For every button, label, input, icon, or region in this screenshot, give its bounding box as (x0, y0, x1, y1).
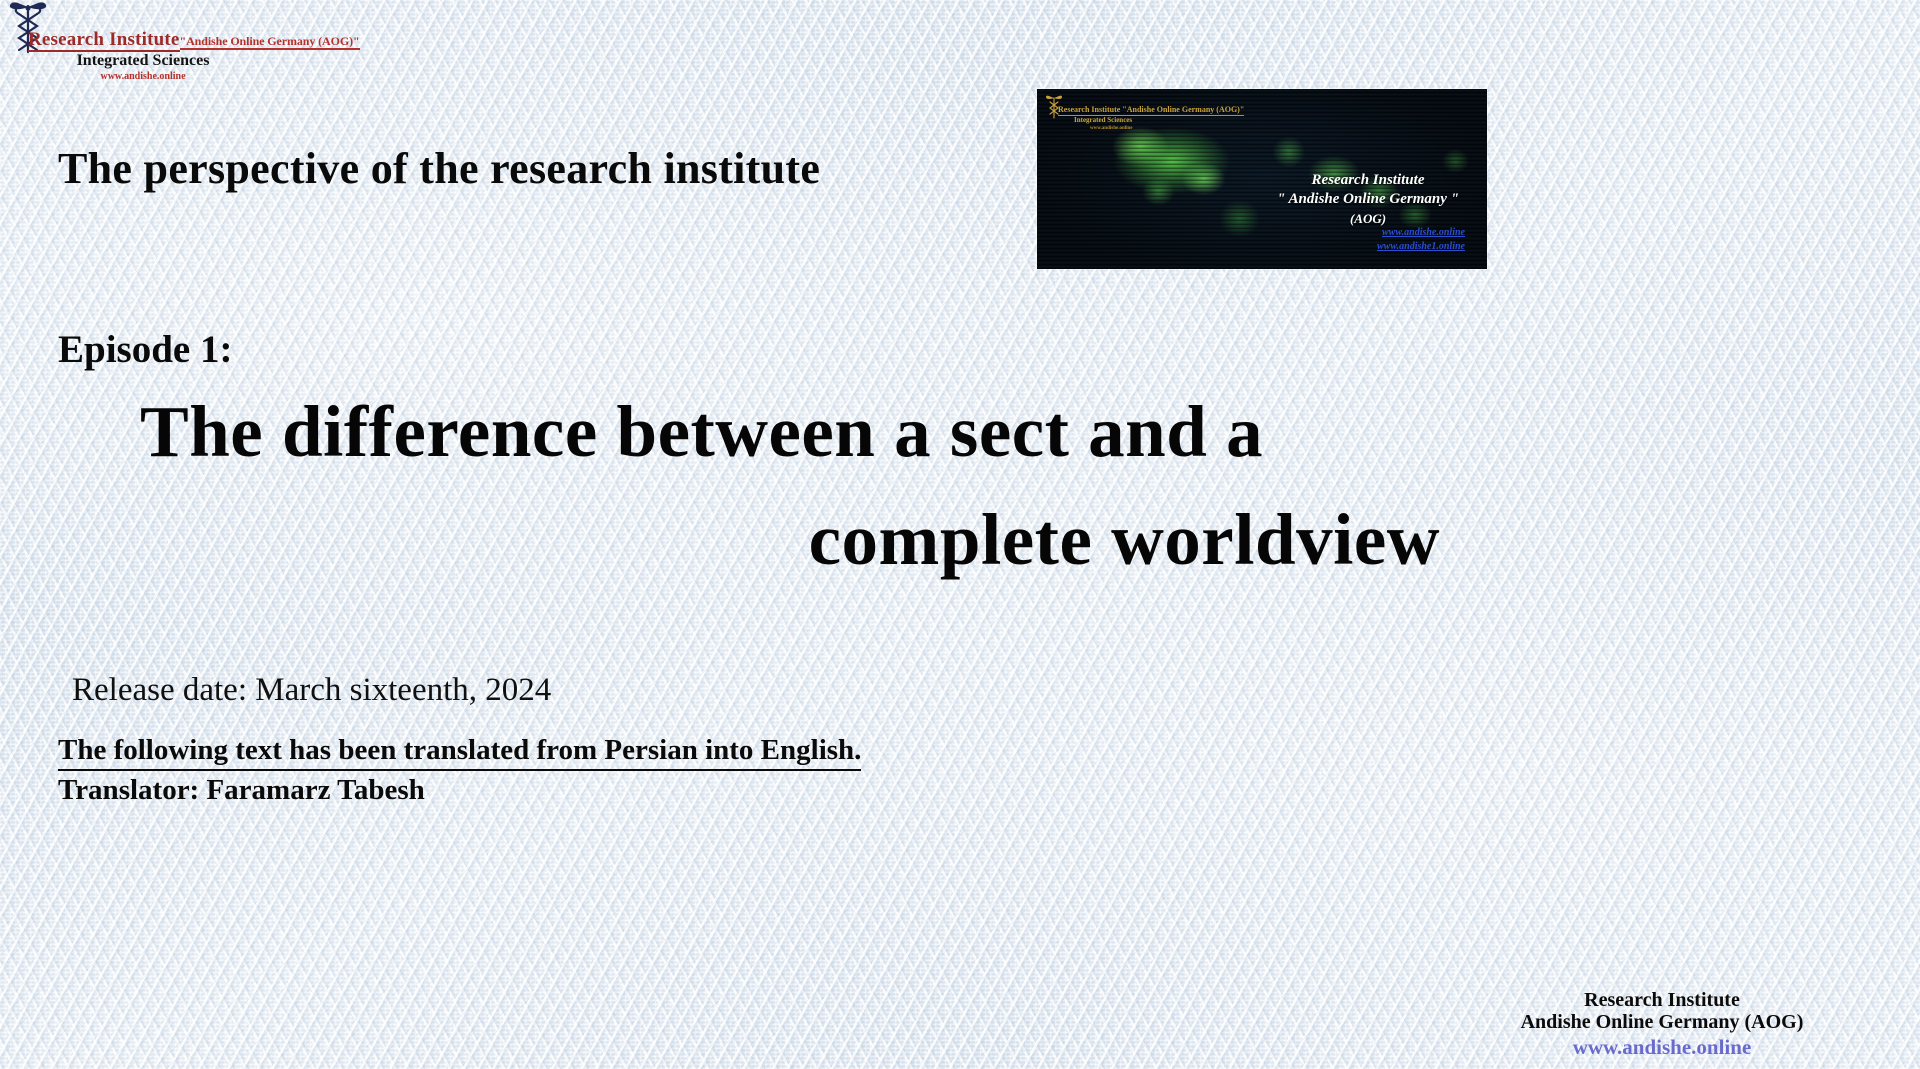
footer-block: Research Institute Andishe Online German… (1452, 989, 1872, 1061)
episode-title: The difference between a sect and a comp… (140, 378, 1440, 594)
header-logo-line1: Research Institute"Andishe Online German… (28, 30, 408, 49)
slide-title: The perspective of the research institut… (58, 143, 820, 194)
footer-org-line: Andishe Online Germany (AOG) (1452, 1011, 1872, 1033)
slide-canvas: Research Institute"Andishe Online German… (0, 0, 1920, 1069)
footer-url[interactable]: www.andishe.online (1452, 1034, 1872, 1061)
banner-url-list: www.andishe.online www.andishe1.online (1377, 226, 1465, 253)
footer-institute-line: Research Institute (1452, 989, 1872, 1011)
release-date: Release date: March sixteenth, 2024 (72, 672, 551, 709)
banner-caption-line2: " Andishe Online Germany " (1277, 190, 1459, 209)
banner-logo-line3: www.andishe.online (1090, 126, 1133, 131)
header-logo-line2: Integrated Sciences (28, 52, 258, 70)
banner-logo-line1: Research Institute "Andishe Online Germa… (1058, 106, 1244, 116)
header-logo-url: www.andishe.online (28, 71, 258, 82)
banner-logo-line2: Integrated Sciences (1074, 117, 1132, 124)
header-logo-institute: Research Institute (28, 29, 180, 52)
episode-title-line1: The difference between a sect and a (140, 378, 1440, 486)
episode-title-line2: complete worldview (140, 486, 1440, 594)
header-logo-text: Research Institute"Andishe Online German… (28, 30, 408, 82)
episode-label: Episode 1: (58, 327, 232, 372)
header-logo: Research Institute"Andishe Online German… (0, 0, 420, 86)
header-logo-aog: "Andishe Online Germany (AOG)" (180, 34, 360, 50)
banner-url-secondary[interactable]: www.andishe1.online (1377, 240, 1465, 254)
banner-caption-line3: (AOG) (1277, 211, 1459, 227)
banner-caption-line1: Research Institute (1277, 171, 1459, 190)
banner-caption: Research Institute " Andishe Online Germ… (1277, 171, 1459, 227)
translation-note: The following text has been translated f… (58, 734, 861, 771)
banner-url-primary[interactable]: www.andishe.online (1377, 226, 1465, 240)
translator-line: Translator: Faramarz Tabesh (58, 774, 425, 807)
banner-world-map-image: Research Institute "Andishe Online Germa… (1037, 89, 1487, 269)
banner-logo: Research Institute "Andishe Online Germa… (1044, 95, 1224, 131)
